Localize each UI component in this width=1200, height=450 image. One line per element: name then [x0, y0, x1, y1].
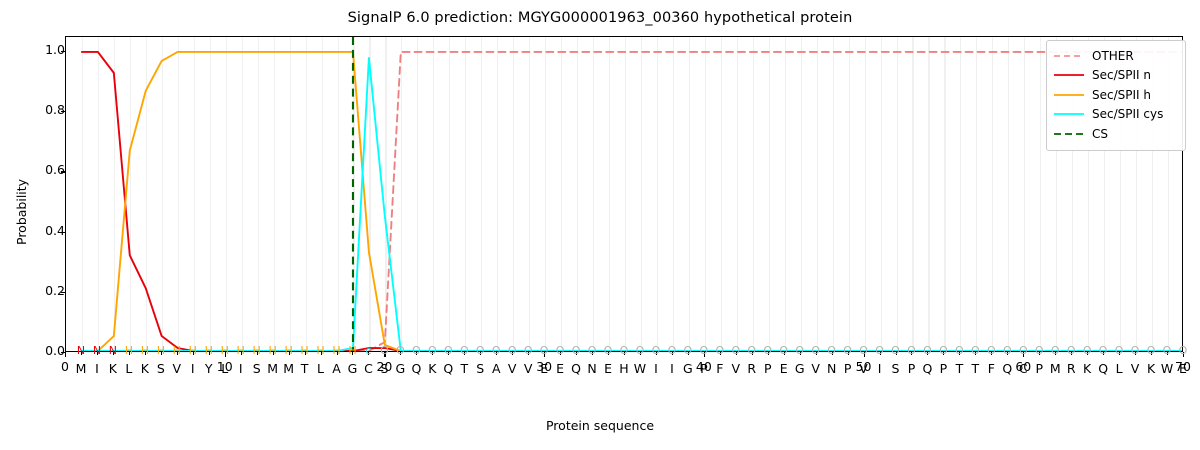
signalp-prediction-figure: SignalP 6.0 prediction: MGYG000001963_00… — [0, 0, 1200, 450]
region-label: O — [460, 345, 469, 356]
y-tick-label: 0.0 — [17, 345, 65, 358]
region-label: H — [157, 345, 165, 356]
sequence-letter: I — [654, 363, 658, 376]
sequence-letter: G — [683, 363, 693, 376]
region-label: O — [1083, 345, 1092, 356]
legend-label-sec-spii-cys: Sec/SPII cys — [1092, 107, 1163, 121]
sequence-letter: I — [191, 363, 195, 376]
sequence-letter: Q — [1002, 363, 1012, 376]
region-label: O — [380, 345, 389, 356]
sequence-letter: M — [267, 363, 278, 376]
legend-item[interactable]: Sec/SPII cys — [1054, 105, 1178, 125]
sequence-letter: H — [619, 363, 628, 376]
sequence-letter: S — [892, 363, 900, 376]
sequence-letter: P — [764, 363, 772, 376]
region-label: H — [300, 345, 308, 356]
region-label: O — [987, 345, 996, 356]
region-label: O — [668, 345, 677, 356]
legend-swatch-cs — [1054, 128, 1084, 140]
region-label: H — [189, 345, 197, 356]
region-label: O — [955, 345, 964, 356]
region-label: O — [907, 345, 916, 356]
region-label: O — [1163, 345, 1172, 356]
sequence-letter: E — [556, 363, 564, 376]
sequence-letter: E — [604, 363, 612, 376]
region-label: O — [684, 345, 693, 356]
region-label: H — [141, 345, 149, 356]
region-label: O — [396, 345, 405, 356]
legend-swatch-sec-spii-cys — [1054, 108, 1084, 120]
region-label: O — [428, 345, 437, 356]
sequence-letter: Q — [411, 363, 421, 376]
sequence-letter: C — [1019, 363, 1028, 376]
sequence-letter: M — [283, 363, 294, 376]
region-label: O — [1051, 345, 1060, 356]
region-label: H — [221, 345, 229, 356]
sequence-letter: G — [396, 363, 406, 376]
legend-label-sec-spii-n: Sec/SPII n — [1092, 68, 1151, 82]
sequence-letter: Q — [1098, 363, 1108, 376]
sequence-letter: P — [1035, 363, 1043, 376]
sequence-letter: Q — [571, 363, 581, 376]
region-label: O — [508, 345, 517, 356]
page-title: SignalP 6.0 prediction: MGYG000001963_00… — [0, 10, 1200, 26]
sequence-letter: N — [827, 363, 836, 376]
sequence-letter: V — [1131, 363, 1140, 376]
region-label: O — [747, 345, 756, 356]
sequence-letter: P — [844, 363, 852, 376]
legend-item[interactable]: CS — [1054, 124, 1178, 144]
sequence-letter: L — [317, 363, 324, 376]
region-label: O — [795, 345, 804, 356]
region-label: O — [1019, 345, 1028, 356]
sequence-letter: V — [859, 363, 868, 376]
region-label: O — [1035, 345, 1044, 356]
region-label: O — [1147, 345, 1156, 356]
region-label: O — [620, 345, 629, 356]
y-axis-ticks: 0.00.20.40.60.81.0 — [0, 0, 65, 450]
legend-label-sec-spii-h: Sec/SPII h — [1092, 88, 1151, 102]
y-tick-label: 0.4 — [17, 225, 65, 238]
region-label: O — [1131, 345, 1140, 356]
sequence-letter: A — [492, 363, 501, 376]
region-label: N — [93, 345, 101, 356]
legend-item[interactable]: Sec/SPII n — [1054, 66, 1178, 86]
series-line-sec-spii-h — [82, 52, 1182, 351]
legend-item[interactable]: OTHER — [1054, 46, 1178, 66]
sequence-letter: Q — [923, 363, 933, 376]
y-tick-label: 1.0 — [17, 44, 65, 57]
data-curves — [66, 37, 1182, 351]
x-axis-label: Protein sequence — [0, 418, 1200, 433]
region-label: H — [173, 345, 181, 356]
sequence-letter: T — [956, 363, 964, 376]
sequence-letter: W — [634, 363, 646, 376]
sequence-letter: F — [716, 363, 723, 376]
legend-swatch-sec-spii-n — [1054, 69, 1084, 81]
sequence-letter: Y — [205, 363, 213, 376]
region-label: O — [412, 345, 421, 356]
region-label: H — [332, 345, 340, 356]
region-label: O — [875, 345, 884, 356]
sequence-letter: K — [1147, 363, 1155, 376]
region-label: O — [476, 345, 485, 356]
sequence-letter: S — [476, 363, 484, 376]
region-label: O — [572, 345, 581, 356]
region-label: O — [763, 345, 772, 356]
region-label: O — [811, 345, 820, 356]
region-label: O — [604, 345, 613, 356]
sequence-letter: F — [988, 363, 995, 376]
sequence-letter: V — [524, 363, 533, 376]
sequence-letter: T — [460, 363, 468, 376]
region-label: O — [779, 345, 788, 356]
sequence-letter: A — [332, 363, 341, 376]
legend-label-cs: CS — [1092, 127, 1108, 141]
region-label: O — [1115, 345, 1124, 356]
sequence-letter: S — [157, 363, 165, 376]
sequence-letter: M — [76, 363, 87, 376]
region-label: O — [492, 345, 501, 356]
legend-swatch-sec-spii-h — [1054, 89, 1084, 101]
sequence-letter: L — [125, 363, 132, 376]
legend-label-other: OTHER — [1092, 49, 1134, 63]
sequence-letter: C — [364, 363, 373, 376]
legend: OTHER Sec/SPII n Sec/SPII h Sec/SPII cys… — [1046, 40, 1186, 151]
sequence-letter: K — [1083, 363, 1091, 376]
sequence-letter: K — [109, 363, 117, 376]
region-label: O — [524, 345, 533, 356]
sequence-letter: T — [301, 363, 309, 376]
sequence-letter: L — [1116, 363, 1123, 376]
region-label: H — [316, 345, 324, 356]
region-label: H — [348, 345, 356, 356]
sequence-letter: P — [940, 363, 948, 376]
series-line-sec-spii-cys — [82, 58, 1182, 351]
region-label: O — [891, 345, 900, 356]
sequence-letter: I — [878, 363, 882, 376]
region-label: O — [1179, 345, 1188, 356]
series-line-sec-spii-n — [82, 52, 1182, 351]
region-label: N — [77, 345, 85, 356]
sequence-letter: V — [811, 363, 820, 376]
region-label: O — [715, 345, 724, 356]
region-label: H — [237, 345, 245, 356]
series-line-other — [82, 52, 1182, 351]
sequence-letter: L — [221, 363, 228, 376]
plot-area — [65, 36, 1183, 352]
region-label: O — [588, 345, 597, 356]
sequence-letter: T — [972, 363, 980, 376]
sequence-letter: P — [908, 363, 916, 376]
sequence-letter: W — [1161, 363, 1173, 376]
region-label: O — [444, 345, 453, 356]
y-tick-label: 0.6 — [17, 164, 65, 177]
region-label: O — [923, 345, 932, 356]
region-label: O — [1003, 345, 1012, 356]
sequence-letter: I — [670, 363, 674, 376]
region-label: c — [365, 345, 371, 356]
region-label: O — [1067, 345, 1076, 356]
sequence-letter: K — [428, 363, 436, 376]
sequence-letter: V — [508, 363, 517, 376]
sequence-letter: V — [732, 363, 741, 376]
region-label: H — [253, 345, 261, 356]
x-tick-mark — [65, 352, 66, 357]
region-label: O — [556, 345, 565, 356]
sequence-letter: I — [95, 363, 99, 376]
region-label: O — [939, 345, 948, 356]
region-label: O — [859, 345, 868, 356]
region-label: O — [700, 345, 709, 356]
region-label: O — [540, 345, 549, 356]
sequence-letter: E — [780, 363, 788, 376]
sequence-letter: V — [173, 363, 182, 376]
region-label: H — [268, 345, 276, 356]
sequence-letter: Q — [443, 363, 453, 376]
sequence-letter: G — [795, 363, 805, 376]
sequence-letter: I — [239, 363, 243, 376]
y-tick-label: 0.2 — [17, 285, 65, 298]
region-label: H — [284, 345, 292, 356]
region-label: O — [843, 345, 852, 356]
region-label: O — [636, 345, 645, 356]
region-label: O — [827, 345, 836, 356]
region-label: O — [1099, 345, 1108, 356]
sequence-letter: S — [380, 363, 388, 376]
region-label: H — [205, 345, 213, 356]
x-tick-label: 0 — [61, 359, 69, 374]
sequence-letter: G — [348, 363, 358, 376]
sequence-letter: R — [747, 363, 756, 376]
sequence-letter: P — [700, 363, 708, 376]
region-label: O — [971, 345, 980, 356]
sequence-letter: E — [540, 363, 548, 376]
region-label: N — [109, 345, 117, 356]
legend-item[interactable]: Sec/SPII h — [1054, 85, 1178, 105]
legend-swatch-other — [1054, 50, 1084, 62]
sequence-letter: S — [253, 363, 261, 376]
sequence-letter: M — [1050, 363, 1061, 376]
sequence-letter: E — [1179, 363, 1187, 376]
region-label: O — [652, 345, 661, 356]
sequence-letter: K — [141, 363, 149, 376]
sequence-letter: R — [1067, 363, 1076, 376]
region-label: H — [125, 345, 133, 356]
y-tick-label: 0.8 — [17, 104, 65, 117]
region-label: O — [731, 345, 740, 356]
sequence-letter: N — [587, 363, 596, 376]
